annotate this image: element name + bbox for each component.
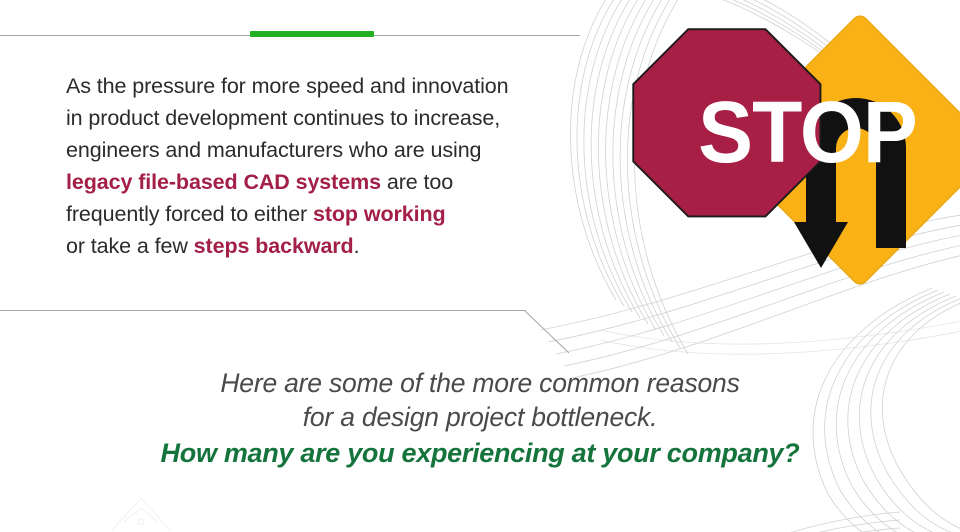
road-signs-graphic: STOP bbox=[560, 0, 960, 300]
body-text: engineers and manufacturers who are usin… bbox=[66, 138, 481, 162]
body-text: As the pressure for more speed and innov… bbox=[66, 74, 509, 98]
lower-heading-block: Here are some of the more common reasons… bbox=[60, 366, 900, 472]
body-line: engineers and manufacturers who are usin… bbox=[66, 134, 586, 166]
panel-corner-diagonal-rule bbox=[524, 310, 586, 354]
panel-bottom-rule bbox=[0, 310, 526, 311]
body-text: frequently forced to either bbox=[66, 202, 313, 226]
faint-corner-mark bbox=[108, 492, 174, 532]
body-text: . bbox=[354, 234, 360, 258]
lower-heading-question: How many are you experiencing at your co… bbox=[60, 434, 900, 472]
body-text: or take a few bbox=[66, 234, 194, 258]
body-text: are too bbox=[381, 170, 453, 194]
body-paragraph: As the pressure for more speed and innov… bbox=[66, 70, 586, 262]
body-line: or take a few steps backward. bbox=[66, 230, 586, 262]
green-accent-bar bbox=[250, 31, 374, 37]
body-line: As the pressure for more speed and innov… bbox=[66, 70, 586, 102]
slide-canvas: As the pressure for more speed and innov… bbox=[0, 0, 960, 532]
body-line: in product development continues to incr… bbox=[66, 102, 586, 134]
body-text: in product development continues to incr… bbox=[66, 106, 500, 130]
body-emphasis: steps backward bbox=[194, 234, 354, 258]
body-line: frequently forced to either stop working bbox=[66, 198, 586, 230]
lower-heading-line-2: for a design project bottleneck. bbox=[60, 400, 900, 434]
body-emphasis: stop working bbox=[313, 202, 446, 226]
lower-heading-line-1: Here are some of the more common reasons bbox=[60, 366, 900, 400]
stop-sign-label: STOP bbox=[698, 83, 917, 181]
body-line: legacy file-based CAD systems are too bbox=[66, 166, 586, 198]
body-emphasis: legacy file-based CAD systems bbox=[66, 170, 381, 194]
